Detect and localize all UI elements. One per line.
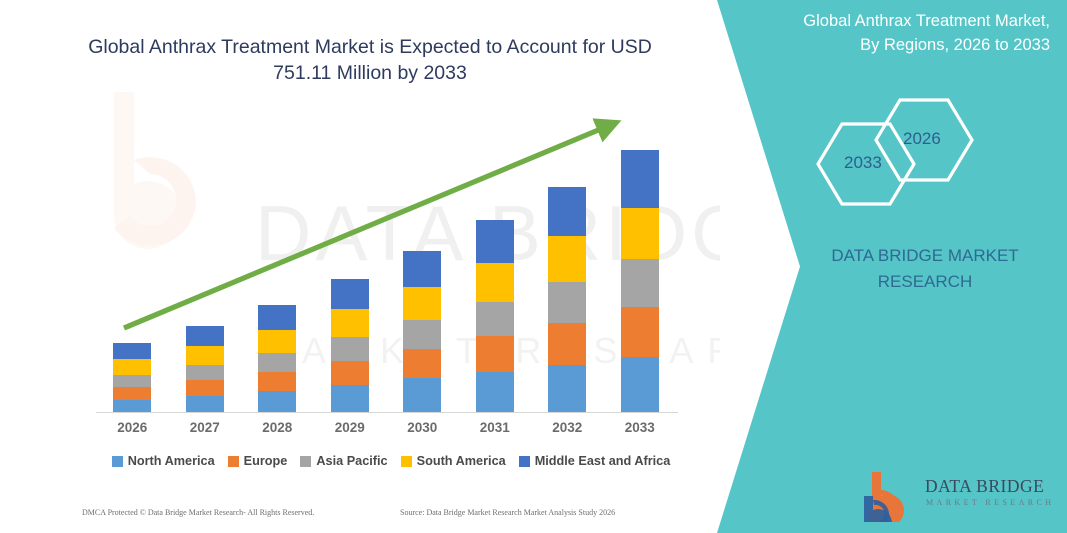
x-axis-label-2032: 2032 — [532, 420, 602, 435]
brand-panel: Global Anthrax Treatment Market, By Regi… — [690, 0, 1067, 533]
footer-source: Source: Data Bridge Market Research Mark… — [400, 508, 615, 517]
x-axis-label-2033: 2033 — [605, 420, 675, 435]
x-axis-label-2028: 2028 — [242, 420, 312, 435]
bar-segment-middle-east-and-africa[interactable] — [186, 326, 224, 346]
legend-swatch-icon — [519, 456, 530, 467]
bar-segment-middle-east-and-africa[interactable] — [113, 343, 151, 359]
legend-label: South America — [417, 454, 506, 468]
brand-panel-title: Global Anthrax Treatment Market, By Regi… — [730, 10, 1050, 58]
bar-segment-south-america[interactable] — [113, 359, 151, 374]
bar-2030[interactable] — [403, 251, 441, 413]
bar-segment-europe[interactable] — [548, 323, 586, 365]
brand-panel-title-line2: By Regions, 2026 to 2033 — [730, 34, 1050, 58]
bar-2032[interactable] — [548, 187, 586, 413]
bar-segment-asia-pacific[interactable] — [621, 259, 659, 307]
bar-segment-south-america[interactable] — [186, 346, 224, 365]
bar-2031[interactable] — [476, 220, 514, 413]
bar-segment-south-america[interactable] — [331, 309, 369, 337]
bar-segment-asia-pacific[interactable] — [403, 320, 441, 349]
x-axis-line — [96, 412, 678, 413]
bar-segment-asia-pacific[interactable] — [476, 302, 514, 337]
bar-2033[interactable] — [621, 150, 659, 413]
bar-segment-europe[interactable] — [403, 349, 441, 379]
bar-segment-north-america[interactable] — [403, 378, 441, 413]
footer-copyright: DMCA Protected © Data Bridge Market Rese… — [82, 508, 314, 517]
hexagon-label-2033: 2033 — [844, 153, 882, 173]
logo-text-main: DATA BRIDGE — [925, 476, 1044, 497]
legend-swatch-icon — [300, 456, 311, 467]
logo-text-sub: MARKET RESEARCH — [926, 498, 1054, 507]
bar-segment-europe[interactable] — [113, 387, 151, 399]
chart-title: Global Anthrax Treatment Market is Expec… — [60, 34, 680, 87]
bar-segment-asia-pacific[interactable] — [113, 375, 151, 387]
bar-segment-europe[interactable] — [331, 361, 369, 385]
data-bridge-logo-icon — [862, 470, 922, 522]
legend-label: Asia Pacific — [316, 454, 387, 468]
bar-segment-south-america[interactable] — [621, 208, 659, 260]
bar-segment-europe[interactable] — [258, 372, 296, 391]
legend-item-north-america[interactable]: North America — [112, 454, 215, 468]
bar-2027[interactable] — [186, 326, 224, 413]
bar-segment-middle-east-and-africa[interactable] — [258, 305, 296, 330]
bar-segment-south-america[interactable] — [403, 287, 441, 320]
x-axis-label-2030: 2030 — [387, 420, 457, 435]
bar-segment-north-america[interactable] — [476, 372, 514, 413]
hexagon-label-2026: 2026 — [903, 129, 941, 149]
bar-2029[interactable] — [331, 279, 369, 413]
bar-segment-europe[interactable] — [621, 307, 659, 357]
legend-item-europe[interactable]: Europe — [228, 454, 288, 468]
bar-segment-asia-pacific[interactable] — [548, 282, 586, 323]
legend-item-middle-east-and-africa[interactable]: Middle East and Africa — [519, 454, 671, 468]
company-logo: DATA BRIDGE MARKET RESEARCH — [862, 468, 1057, 524]
bar-segment-europe[interactable] — [476, 336, 514, 372]
chart-panel: DATA BRIDGE MARKET RESEARCH Global Anthr… — [0, 0, 720, 533]
bar-segment-europe[interactable] — [186, 380, 224, 395]
brand-name: DATA BRIDGE MARKET RESEARCH — [800, 243, 1050, 294]
bar-segment-north-america[interactable] — [621, 357, 659, 413]
bar-segment-south-america[interactable] — [476, 263, 514, 301]
legend-label: North America — [128, 454, 215, 468]
legend-item-south-america[interactable]: South America — [401, 454, 506, 468]
hexagon-outlines-icon — [808, 92, 1028, 207]
legend-item-asia-pacific[interactable]: Asia Pacific — [300, 454, 387, 468]
bar-segment-middle-east-and-africa[interactable] — [476, 220, 514, 263]
bar-segment-north-america[interactable] — [113, 400, 151, 413]
bar-segment-north-america[interactable] — [548, 365, 586, 413]
bar-segment-north-america[interactable] — [186, 396, 224, 413]
bar-segment-asia-pacific[interactable] — [331, 337, 369, 361]
legend-swatch-icon — [401, 456, 412, 467]
bar-segment-north-america[interactable] — [258, 391, 296, 413]
bar-segment-south-america[interactable] — [548, 236, 586, 281]
chart-legend: North AmericaEuropeAsia PacificSouth Ame… — [96, 454, 686, 468]
brand-name-line1: DATA BRIDGE MARKET — [800, 243, 1050, 269]
x-axis-label-2029: 2029 — [315, 420, 385, 435]
legend-swatch-icon — [228, 456, 239, 467]
legend-label: Middle East and Africa — [535, 454, 671, 468]
bar-segment-middle-east-and-africa[interactable] — [331, 279, 369, 310]
brand-name-line2: RESEARCH — [800, 269, 1050, 295]
bar-segment-middle-east-and-africa[interactable] — [403, 251, 441, 287]
bar-segment-middle-east-and-africa[interactable] — [548, 187, 586, 237]
bar-segment-south-america[interactable] — [258, 330, 296, 353]
x-axis-labels: 20262027202820292030203120322033 — [96, 420, 676, 442]
infographic-root: DATA BRIDGE MARKET RESEARCH Global Anthr… — [0, 0, 1067, 533]
legend-label: Europe — [244, 454, 288, 468]
x-axis-label-2026: 2026 — [97, 420, 167, 435]
legend-swatch-icon — [112, 456, 123, 467]
bar-segment-north-america[interactable] — [331, 385, 369, 413]
x-axis-label-2027: 2027 — [170, 420, 240, 435]
plot-area — [96, 108, 676, 413]
bar-segment-middle-east-and-africa[interactable] — [621, 150, 659, 208]
bar-2026[interactable] — [113, 343, 151, 413]
hexagon-group: 2026 2033 — [808, 92, 1028, 207]
brand-panel-title-line1: Global Anthrax Treatment Market, — [730, 10, 1050, 34]
bar-segment-asia-pacific[interactable] — [258, 353, 296, 372]
bar-segment-asia-pacific[interactable] — [186, 365, 224, 380]
x-axis-label-2031: 2031 — [460, 420, 530, 435]
bar-2028[interactable] — [258, 305, 296, 413]
